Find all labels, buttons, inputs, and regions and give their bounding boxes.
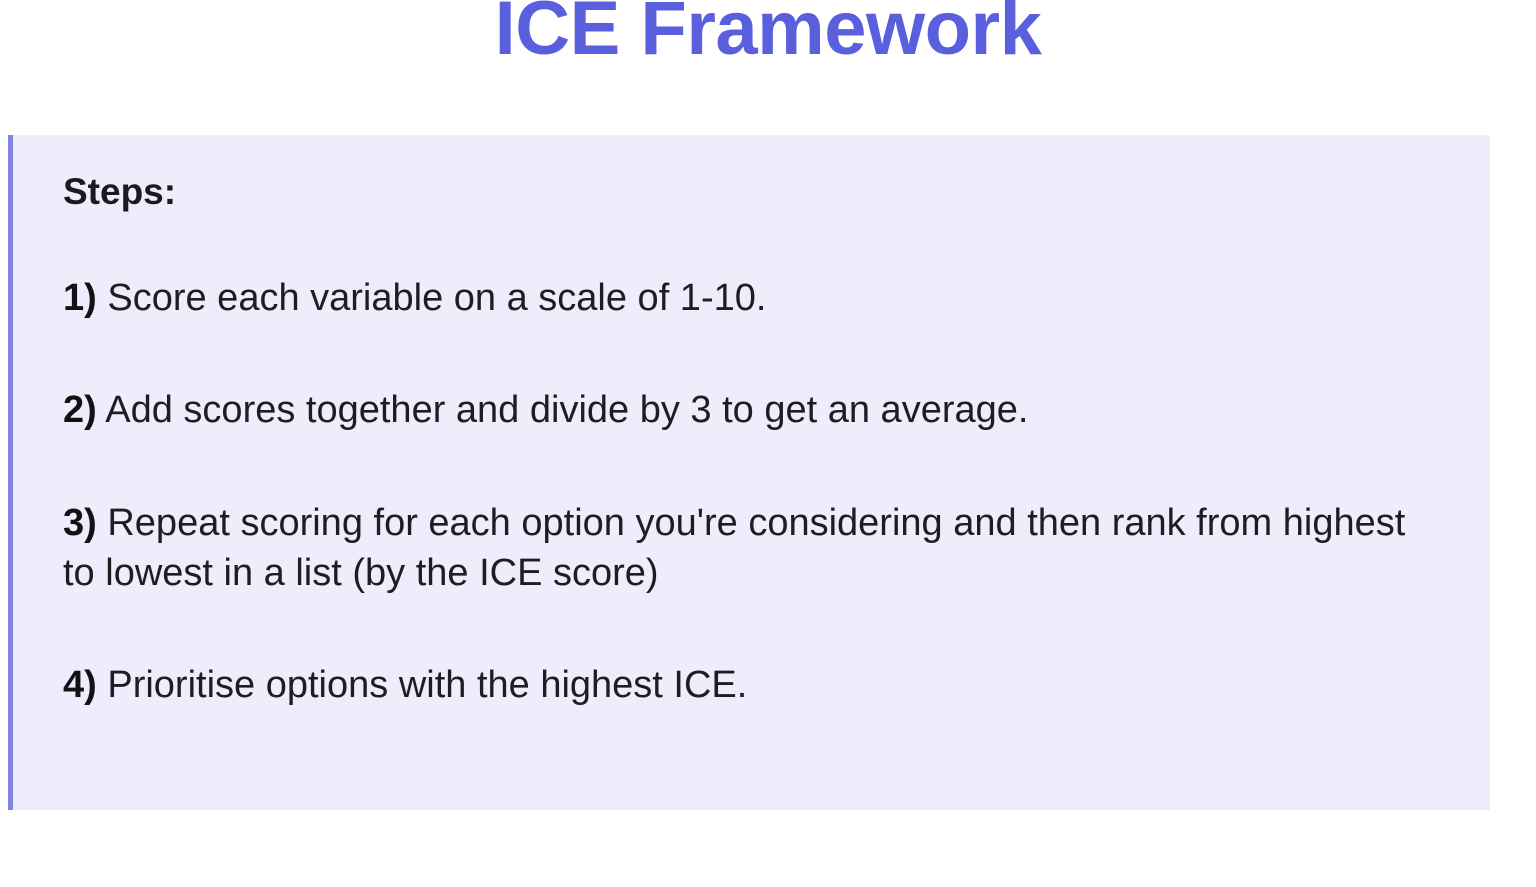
- step-text: Add scores together and divide by 3 to g…: [105, 389, 1028, 431]
- steps-panel: Steps: 1) Score each variable on a scale…: [8, 135, 1490, 810]
- step-text: Repeat scoring for each option you're co…: [63, 502, 1405, 594]
- step-text: Score each variable on a scale of 1-10.: [107, 277, 766, 319]
- step-item: 1) Score each variable on a scale of 1-1…: [63, 273, 1423, 323]
- page-title: ICE Framework: [0, 0, 1536, 71]
- step-number: 3): [63, 502, 97, 544]
- steps-panel-content: Steps: 1) Score each variable on a scale…: [13, 135, 1490, 730]
- step-number: 1): [63, 277, 97, 319]
- step-item: 2) Add scores together and divide by 3 t…: [63, 385, 1423, 435]
- slide-canvas: ICE Framework Steps: 1) Score each varia…: [0, 0, 1536, 887]
- step-item: 4) Prioritise options with the highest I…: [63, 660, 1423, 710]
- step-item: 3) Repeat scoring for each option you're…: [63, 498, 1423, 598]
- step-number: 2): [63, 389, 97, 431]
- step-text: Prioritise options with the highest ICE.: [107, 664, 747, 706]
- step-number: 4): [63, 664, 97, 706]
- steps-heading: Steps:: [63, 169, 1450, 215]
